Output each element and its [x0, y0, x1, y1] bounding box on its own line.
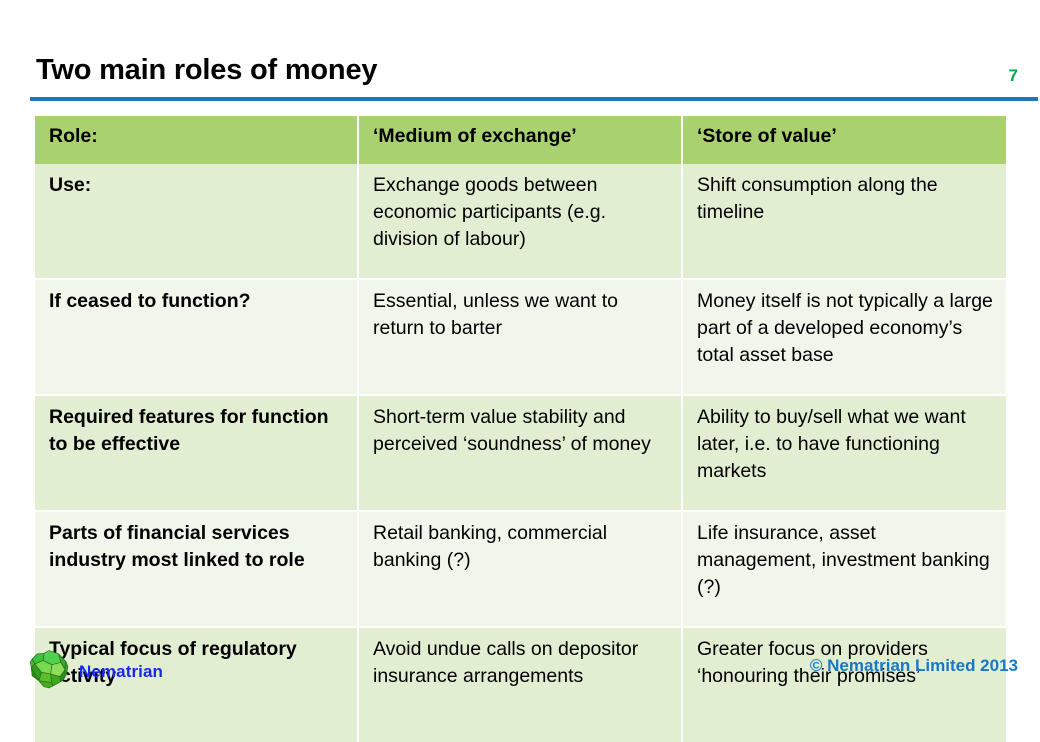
nematrian-polyhedron-logo-icon	[28, 648, 70, 695]
page-title: Two main roles of money	[36, 54, 377, 87]
cell-if-ceased-store: Money itself is not typically a large pa…	[682, 279, 1006, 395]
row-label-use: Use:	[35, 164, 358, 279]
cell-required-features-medium: Short-term value stability and perceived…	[358, 395, 682, 511]
header-divider-rule	[30, 97, 1038, 101]
row-label-parts-of-industry: Parts of financial services industry mos…	[35, 511, 358, 627]
table-row: Use: Exchange goods between economic par…	[35, 164, 1006, 279]
slide-header: Two main roles of money 7	[0, 0, 1040, 100]
table-header-row: Role: ‘Medium of exchange’ ‘Store of val…	[35, 116, 1006, 164]
brand-name: Nematrian	[79, 662, 163, 682]
cell-if-ceased-medium: Essential, unless we want to return to b…	[358, 279, 682, 395]
table-header-row-group: Role: ‘Medium of exchange’ ‘Store of val…	[35, 116, 1006, 164]
cell-required-features-store: Ability to buy/sell what we want later, …	[682, 395, 1006, 511]
table-row: Required features for function to be eff…	[35, 395, 1006, 511]
row-label-if-ceased: If ceased to function?	[35, 279, 358, 395]
table-row: If ceased to function? Essential, unless…	[35, 279, 1006, 395]
brand-block: Nematrian	[28, 648, 163, 695]
cell-parts-of-industry-medium: Retail banking, commercial banking (?)	[358, 511, 682, 627]
cell-parts-of-industry-store: Life insurance, asset management, invest…	[682, 511, 1006, 627]
cell-use-store: Shift consumption along the timeline	[682, 164, 1006, 279]
cell-use-medium: Exchange goods between economic particip…	[358, 164, 682, 279]
column-header-role: Role:	[35, 116, 358, 164]
page-number: 7	[1009, 66, 1018, 86]
table-row: Parts of financial services industry mos…	[35, 511, 1006, 627]
column-header-store: ‘Store of value’	[682, 116, 1006, 164]
column-header-medium: ‘Medium of exchange’	[358, 116, 682, 164]
row-label-required-features: Required features for function to be eff…	[35, 395, 358, 511]
slide-footer: Nematrian © Nematrian Limited 2013	[0, 640, 1040, 720]
copyright-notice: © Nematrian Limited 2013	[810, 656, 1018, 676]
